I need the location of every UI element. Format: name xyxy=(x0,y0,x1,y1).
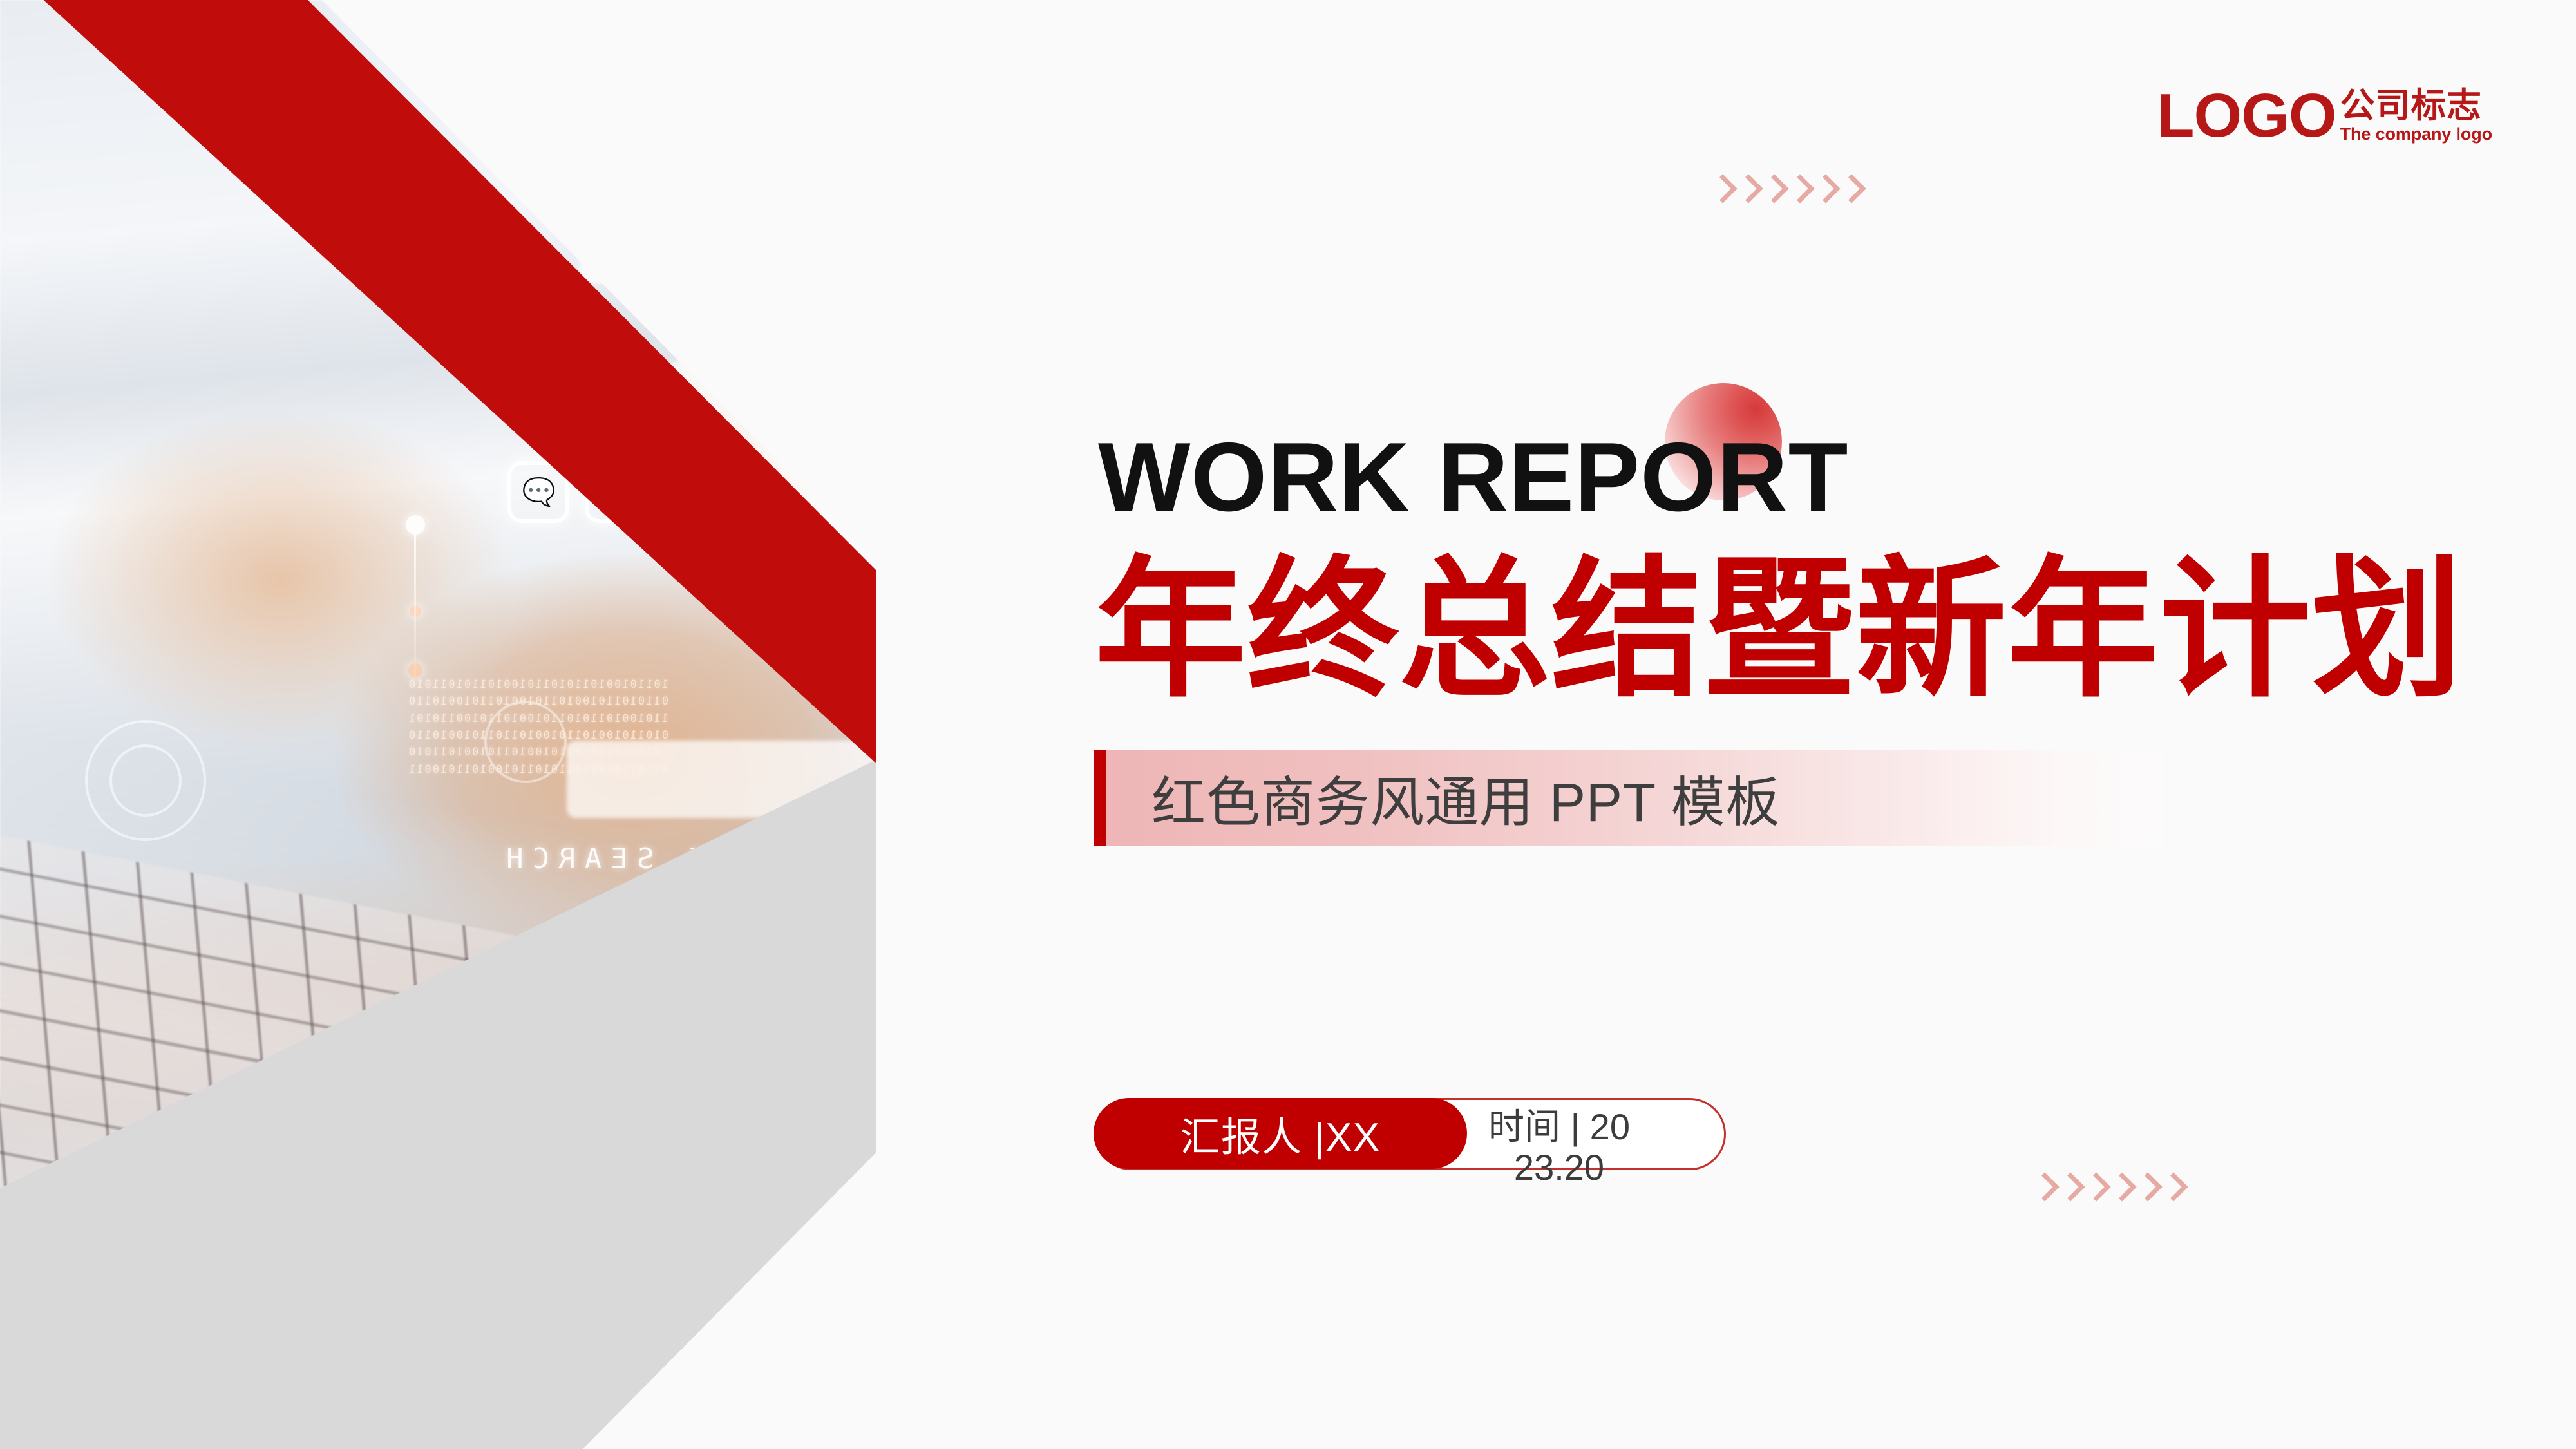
chevron-right-icon xyxy=(1710,175,1732,205)
subtitle-text: 红色商务风通用 PPT 模板 xyxy=(1151,759,1780,837)
chevron-group-bottom xyxy=(2032,1173,2183,1203)
company-logo[interactable]: LOGO 公司标志 The company logo xyxy=(2157,85,2492,147)
english-title: WORK REPORT xyxy=(1098,428,1848,526)
presenter-label: 汇报人 |XX xyxy=(1180,1104,1381,1162)
logo-wordmark: LOGO xyxy=(2157,85,2336,147)
chevron-right-icon xyxy=(2032,1173,2054,1203)
chevron-right-icon xyxy=(1839,175,1861,205)
chevron-right-icon xyxy=(2161,1173,2183,1203)
chevron-right-icon xyxy=(2083,1173,2105,1203)
chevron-right-icon xyxy=(2135,1173,2157,1203)
left-decorative-composition: NETWORK SEARCH INTERNET CHAT LOADI ✓ ↻ ☁… xyxy=(0,0,876,1449)
presentation-slide: NETWORK SEARCH INTERNET CHAT LOADI ✓ ↻ ☁… xyxy=(0,0,2576,1449)
date-label: 时间 | 2023.20 xyxy=(1479,1107,1640,1188)
chevron-right-icon xyxy=(1787,175,1809,205)
logo-chinese-name: 公司标志 xyxy=(2340,88,2482,123)
chevron-right-icon xyxy=(2109,1173,2131,1203)
chevron-group-top xyxy=(1710,175,1861,205)
chevron-right-icon xyxy=(1736,175,1757,205)
page-title: 年终总结暨新年计划 xyxy=(1095,551,2464,710)
footer-meta: 时间 | 2023.20 汇报人 |XX xyxy=(1095,1098,1726,1170)
chevron-right-icon xyxy=(1813,175,1835,205)
subtitle-accent-bar xyxy=(1094,750,1106,846)
chevron-right-icon xyxy=(2058,1173,2079,1203)
presenter-pill[interactable]: 汇报人 |XX xyxy=(1094,1098,1467,1169)
chevron-right-icon xyxy=(1761,175,1783,205)
subtitle-banner: 红色商务风通用 PPT 模板 xyxy=(1094,750,2163,846)
logo-english-name: The company logo xyxy=(2340,126,2492,143)
logo-text-group: 公司标志 The company logo xyxy=(2340,88,2492,147)
